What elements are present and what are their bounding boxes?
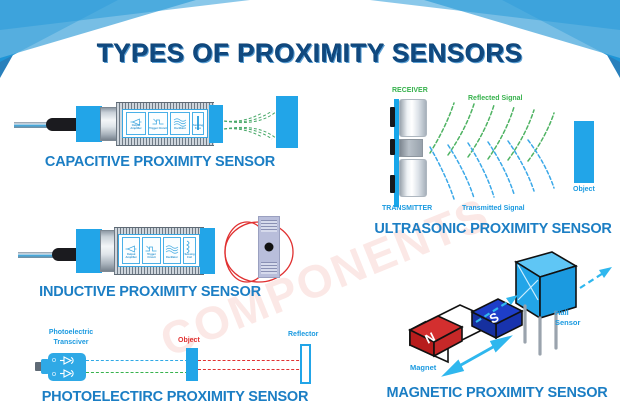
photoelectric-object [186, 348, 198, 381]
block-caption: Trigger Circuit [149, 128, 167, 131]
sensor-front-cap [209, 105, 223, 143]
inductive-metal-target [258, 216, 280, 278]
photoelectric-transceiver [48, 353, 86, 381]
beam-reflector-outgoing-red [198, 360, 304, 361]
sensor-rear-cap [76, 229, 102, 273]
oscillator-icon [174, 118, 186, 126]
trigger-icon [146, 245, 157, 253]
label-hall-sensor-line2: Sensor [555, 318, 580, 327]
block-oscillator: Oscillator [163, 237, 181, 264]
section-title-magnetic: MAGNETIC PROXIMITY SENSOR [374, 385, 620, 401]
section-title-ultrasonic: ULTRASONIC PROXIMITY SENSOR [362, 221, 620, 237]
electromagnetic-field-loops [212, 213, 302, 291]
block-caption: Output Amplifier [123, 254, 139, 260]
section-title-photoelectric: PHOTOELECTIRC PROXIMITY SENSOR [40, 389, 310, 405]
block-caption: Sensing Face [193, 125, 203, 131]
section-title-inductive: INDUCTIVE PROXIMITY SENSOR [0, 284, 300, 300]
label-object: Object [573, 186, 595, 195]
target-hatch-bottom [261, 262, 277, 274]
section-ultrasonic: RECEIVER TRANSMITTER Reflected Signal Tr… [370, 85, 620, 245]
beam-outgoing-blue [86, 360, 188, 361]
ultrasonic-receiver-transducer [399, 99, 427, 137]
label-transceiver-line2: Transciver [36, 339, 106, 348]
capacitive-target-plate [276, 96, 298, 148]
block-trigger-circuit: Trigger Circuit [142, 237, 160, 264]
block-output-amplifier: Output Amplifier [122, 237, 140, 264]
sensor-internal-diagram: Output Amplifier Trigger Circuit Oscilla… [118, 234, 200, 267]
amplifier-icon [126, 245, 137, 253]
ultrasonic-center-module [399, 139, 423, 157]
photoelectric-reflector [300, 344, 311, 384]
sensor-rear-cap [76, 106, 102, 142]
block-caption: Sensing Coil [184, 254, 195, 260]
section-magnetic: N S [380, 250, 620, 420]
hall-sensor [516, 252, 576, 354]
infographic-canvas: COMPONENTS TYPES OF PROXIMITY SENSORS Ou… [0, 0, 620, 420]
block-output-amplifier: Output Amplifier [126, 112, 146, 135]
label-object: Object [178, 337, 200, 346]
ultrasonic-pin-mid [390, 139, 395, 155]
section-photoelectric: Photoelectric Transciver Obj [20, 315, 350, 410]
block-caption: Trigger Circuit [143, 254, 159, 260]
label-magnet: Magnet [410, 363, 436, 372]
block-caption: Oscillator [171, 128, 189, 131]
block-sensing-face: Sensing Face [192, 112, 204, 135]
ultrasonic-transmitter-transducer [399, 159, 427, 197]
ultrasonic-wave-arcs [424, 97, 574, 207]
oscillator-icon [166, 245, 178, 253]
label-transceiver-line1: Photoelectric [36, 329, 106, 338]
beam-return-green [86, 372, 188, 373]
section-inductive: Output Amplifier Trigger Circuit Oscilla… [0, 205, 330, 300]
target-mounting-hole [265, 243, 274, 252]
ultrasonic-target-object [574, 121, 594, 183]
block-trigger-circuit: Trigger Circuit [148, 112, 168, 135]
capacitive-field-waves [222, 101, 280, 149]
label-receiver: RECEIVER [392, 87, 428, 96]
ultrasonic-pin-top [390, 107, 395, 127]
section-capacitive: Output Amplifier Trigger Circuit Oscilla… [0, 85, 320, 180]
section-title-capacitive: CAPACITIVE PROXIMITY SENSOR [0, 154, 320, 170]
field-direction-arrow [580, 267, 612, 288]
target-hatch-top [261, 220, 277, 232]
bar-magnet: N S [410, 299, 522, 362]
block-oscillator: Oscillator [170, 112, 190, 135]
cable-strain-relief [46, 118, 80, 131]
page-title: TYPES OF PROXIMITY SENSORS [0, 38, 620, 69]
block-sensing-coil: Sensing Coil [183, 237, 196, 264]
trigger-icon [153, 118, 164, 126]
label-reflector: Reflector [288, 331, 318, 340]
sensor-internal-diagram: Output Amplifier Trigger Circuit Oscilla… [122, 109, 208, 138]
ultrasonic-pin-bottom [390, 175, 395, 193]
transceiver-optics-icon [48, 353, 86, 381]
block-caption: Oscillator [164, 257, 180, 260]
beam-reflector-return-red [198, 369, 304, 370]
label-hall-sensor-line1: Hall [555, 308, 569, 317]
block-caption: Output Amplifier [127, 125, 145, 131]
